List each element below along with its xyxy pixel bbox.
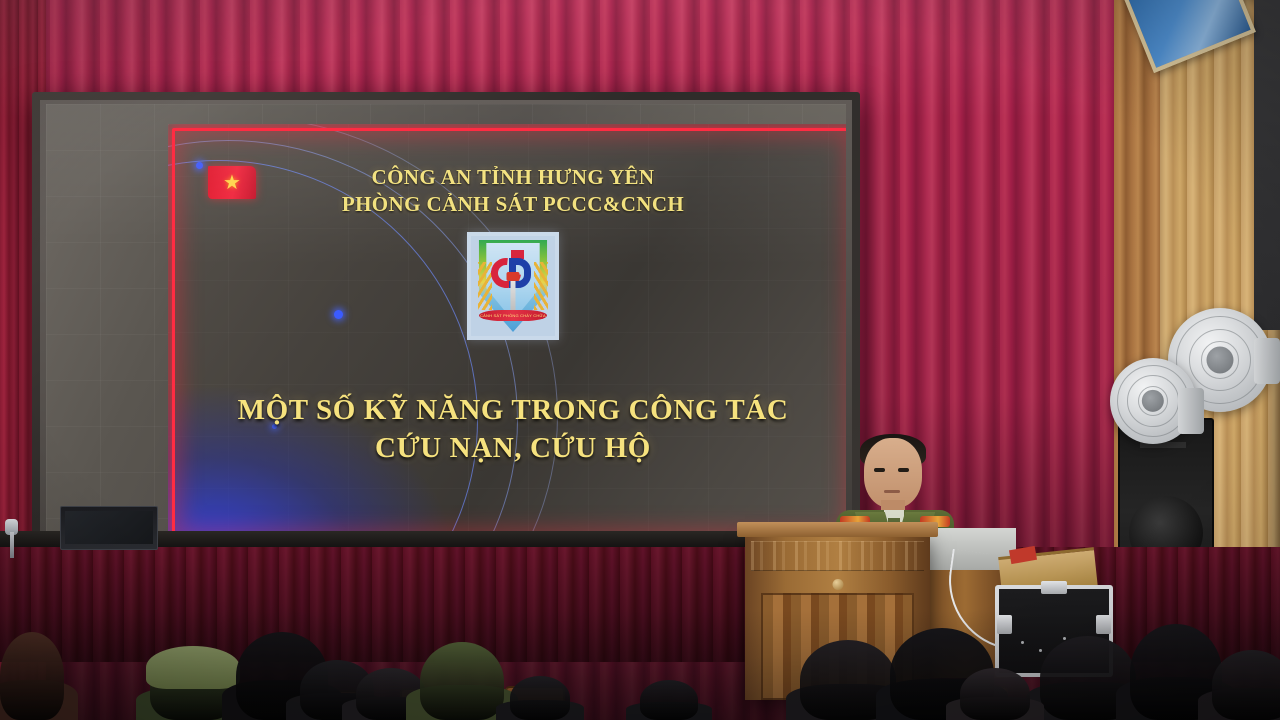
slide-title-line-2: CỨU NẠN, CỨU HỘ bbox=[168, 430, 846, 468]
slide-org-line-1: CÔNG AN TỈNH HƯNG YÊN bbox=[168, 164, 846, 191]
officer-eye bbox=[874, 468, 885, 472]
audience-cap-icon bbox=[146, 646, 240, 689]
pccc-emblem: CẢNH SÁT PHÒNG CHÁY CHỮA CHÁY bbox=[467, 232, 559, 340]
audience-area bbox=[0, 610, 1280, 720]
audience-head bbox=[960, 668, 1030, 720]
emblem-inner: CẢNH SÁT PHÒNG CHÁY CHỮA CHÁY bbox=[471, 236, 555, 336]
presenter-laptop[interactable] bbox=[60, 506, 158, 550]
slide-main-title: MỘT SỐ KỸ NĂNG TRONG CÔNG TÁC CỨU NẠN, C… bbox=[168, 392, 846, 467]
microphone-stand bbox=[10, 532, 14, 558]
audience-head bbox=[510, 676, 570, 720]
emblem-wheat-right-icon bbox=[534, 262, 548, 310]
case-handle bbox=[1041, 581, 1067, 594]
wall-dark-panel bbox=[1254, 0, 1280, 330]
emblem-torch-icon bbox=[511, 278, 516, 314]
fan-hub bbox=[1206, 346, 1233, 373]
slide-dot-decoration bbox=[334, 310, 343, 319]
podium-top bbox=[737, 522, 938, 537]
audience-head bbox=[420, 642, 504, 720]
audience-head bbox=[640, 680, 698, 720]
slide-title-line-1: MỘT SỐ KỸ NĂNG TRONG CÔNG TÁC bbox=[168, 392, 846, 430]
slide-org-line-2: PHÒNG CẢNH SÁT PCCC&CNCH bbox=[168, 191, 846, 218]
emblem-torch-flame-icon bbox=[507, 272, 520, 281]
screen-surface: ★ CÔNG AN TỈNH HƯNG YÊN PHÒNG CẢNH SÁT P… bbox=[46, 104, 846, 558]
audience-head bbox=[0, 632, 64, 720]
slide-organization-heading: CÔNG AN TỈNH HƯNG YÊN PHÒNG CẢNH SÁT PCC… bbox=[168, 164, 846, 217]
presentation-slide[interactable]: ★ CÔNG AN TỈNH HƯNG YÊN PHÒNG CẢNH SÁT P… bbox=[168, 124, 846, 542]
officer-mouth bbox=[884, 490, 900, 493]
fan-mount bbox=[1178, 388, 1204, 434]
fan-mount bbox=[1254, 338, 1280, 384]
officer-head bbox=[864, 438, 922, 508]
emblem-banner: CẢNH SÁT PHÒNG CHÁY CHỮA CHÁY bbox=[479, 310, 547, 321]
laptop-screen bbox=[65, 511, 153, 544]
presentation-scene: ★ CÔNG AN TỈNH HƯNG YÊN PHÒNG CẢNH SÁT P… bbox=[0, 0, 1280, 720]
podium-knob bbox=[832, 579, 843, 590]
audience-head bbox=[1212, 650, 1280, 720]
podium-carving bbox=[751, 541, 924, 571]
officer-eye bbox=[898, 468, 909, 472]
